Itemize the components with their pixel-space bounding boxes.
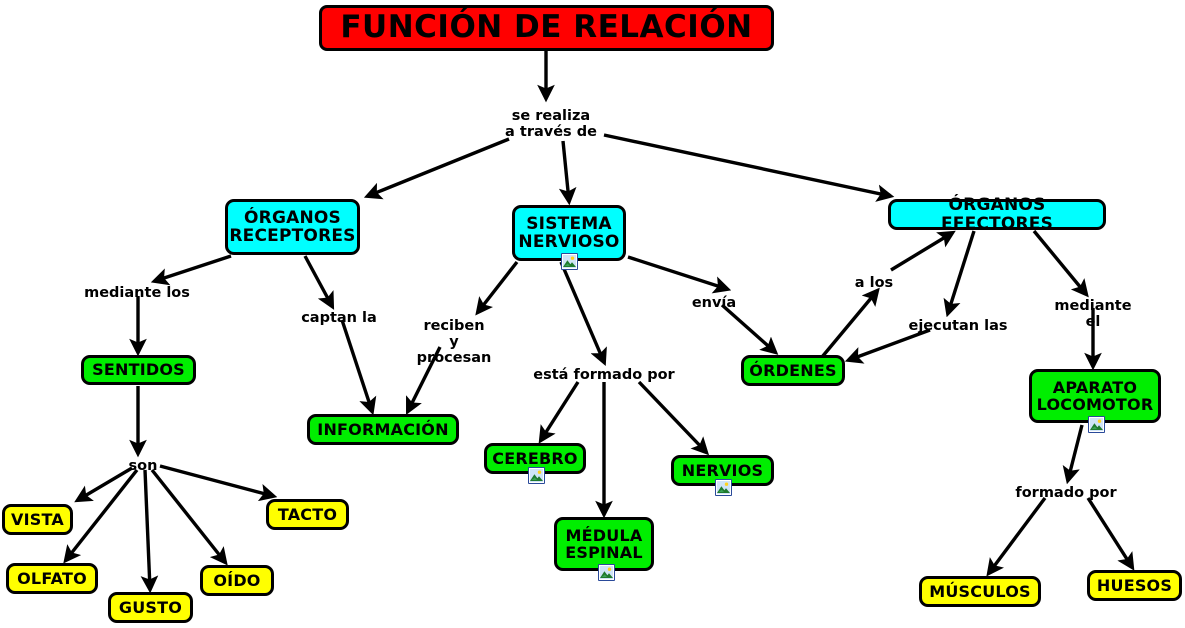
image-icon-cerebro[interactable]	[528, 467, 545, 484]
image-icon-nervios[interactable]	[715, 479, 732, 496]
node-label-tacto: TACTO	[278, 506, 337, 523]
edge-a-los-efectores	[891, 233, 952, 270]
node-label-huesos: HUESOS	[1097, 577, 1172, 594]
edge-aparato-formado-por	[1068, 425, 1082, 480]
link-label-captan-la: captan la	[301, 310, 377, 326]
node-funcion[interactable]: FUNCIÓN DE RELACIÓN	[319, 5, 774, 51]
node-ordenes[interactable]: ÓRDENES	[741, 355, 845, 386]
node-label-informacion: INFORMACIÓN	[317, 421, 448, 438]
link-label-reciben: reciben y procesan	[417, 318, 492, 367]
node-gusto[interactable]: GUSTO	[108, 592, 193, 623]
edge-efectores-mediante-el	[1034, 231, 1086, 294]
node-aparato[interactable]: APARATO LOCOMOTOR	[1029, 369, 1161, 423]
edge-ejecutan-ordenes	[849, 330, 930, 360]
node-musculos[interactable]: MÚSCULOS	[919, 576, 1041, 607]
node-receptores[interactable]: ÓRGANOS RECEPTORES	[225, 199, 360, 255]
edge-formado-por-musculos	[989, 498, 1045, 573]
edge-sistema-envia	[628, 257, 727, 289]
edge-se-realiza-efectores	[604, 135, 890, 196]
edge-son-tacto	[160, 466, 273, 496]
node-label-olfato: OLFATO	[17, 570, 87, 587]
node-informacion[interactable]: INFORMACIÓN	[307, 414, 459, 445]
node-huesos[interactable]: HUESOS	[1087, 570, 1182, 601]
node-tacto[interactable]: TACTO	[266, 499, 349, 530]
edge-se-realiza-sistema	[563, 141, 569, 201]
link-label-mediante-el: mediante el	[1047, 298, 1139, 330]
link-label-a-los: a los	[855, 275, 893, 291]
edge-formado-nervios	[639, 382, 706, 452]
node-label-nervios: NERVIOS	[682, 462, 764, 479]
node-label-funcion: FUNCIÓN DE RELACIÓN	[340, 11, 752, 44]
edge-son-vista	[78, 468, 132, 500]
node-medula[interactable]: MÉDULA ESPINAL	[554, 517, 654, 571]
node-vista[interactable]: VISTA	[2, 504, 73, 535]
link-label-mediante-los: mediante los	[84, 285, 190, 301]
edge-efectores-ejecutan	[948, 231, 974, 313]
link-label-envia: envía	[692, 295, 736, 311]
edge-receptores-mediante	[155, 256, 231, 281]
concept-map-canvas: FUNCIÓN DE RELACIÓNÓRGANOS RECEPTORESSIS…	[0, 0, 1185, 628]
edge-se-realiza-receptores	[368, 139, 509, 196]
node-label-cerebro: CEREBRO	[492, 450, 577, 467]
image-icon-aparato[interactable]	[1088, 416, 1105, 433]
node-label-aparato: APARATO LOCOMOTOR	[1037, 379, 1154, 414]
node-label-musculos: MÚSCULOS	[929, 583, 1031, 600]
node-label-oido: OÍDO	[213, 572, 260, 589]
link-label-ejecutan-las: ejecutan las	[908, 318, 1007, 334]
link-label-se-realiza: se realiza a través de	[505, 108, 597, 140]
image-icon-medula[interactable]	[598, 564, 615, 581]
node-label-medula: MÉDULA ESPINAL	[565, 527, 643, 562]
node-efectores[interactable]: ÓRGANOS EFECTORES	[888, 199, 1106, 230]
edge-son-oido	[152, 470, 225, 562]
link-label-esta-formado: está formado por	[533, 367, 674, 383]
node-label-sistema: SISTEMA NERVIOSO	[518, 215, 619, 252]
node-oido[interactable]: OÍDO	[200, 565, 274, 596]
node-label-receptores: ÓRGANOS RECEPTORES	[229, 209, 355, 246]
edge-son-gusto	[145, 470, 150, 589]
edge-ordenes-a-los	[822, 291, 877, 357]
link-label-son: son	[129, 458, 158, 474]
node-label-efectores: ÓRGANOS EFECTORES	[891, 196, 1103, 233]
edge-formado-por-huesos	[1088, 498, 1132, 567]
edge-sistema-formado	[561, 262, 604, 362]
edge-captan-informacion	[342, 320, 372, 411]
node-olfato[interactable]: OLFATO	[6, 563, 98, 594]
node-label-sentidos: SENTIDOS	[92, 361, 185, 378]
node-sentidos[interactable]: SENTIDOS	[81, 355, 196, 385]
image-icon-sistema[interactable]	[561, 253, 578, 270]
edge-envia-ordenes	[722, 305, 775, 352]
edge-sistema-reciben	[478, 262, 517, 312]
link-label-formado-por: formado por	[1015, 485, 1116, 501]
edge-son-olfato	[66, 470, 137, 560]
node-label-gusto: GUSTO	[119, 599, 182, 616]
edge-receptores-captan	[305, 256, 332, 306]
node-label-vista: VISTA	[11, 511, 64, 528]
node-label-ordenes: ÓRDENES	[749, 362, 836, 379]
edge-formado-cerebro	[541, 382, 578, 440]
